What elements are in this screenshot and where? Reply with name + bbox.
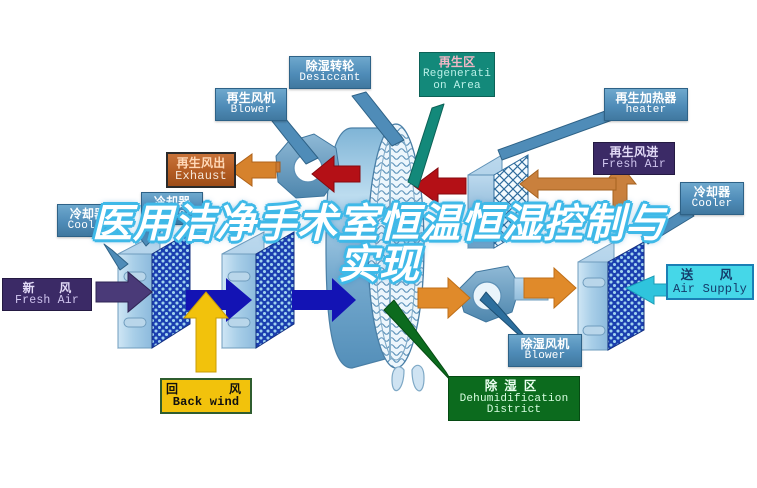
callout-fresh-air[interactable]: 新 风 Fresh Air [2, 278, 92, 311]
callout-desiccant-wheel-en: Desiccant [294, 73, 366, 85]
callout-air-supply-en: Air Supply [672, 283, 748, 296]
callout-back-wind-cn: 回 风 [166, 383, 246, 396]
callout-dehum-blower[interactable]: 除湿风机 Blower [508, 334, 582, 367]
callout-regen-heater-cn: 再生加热器 [609, 92, 683, 105]
callout-regen-fresh-air[interactable]: 再生风进 Fresh Air [593, 142, 675, 175]
callout-cooler-right[interactable]: 冷却器 Cooler [680, 182, 744, 215]
callout-dehum-blower-cn: 除湿风机 [513, 338, 577, 351]
callout-air-supply[interactable]: 送 风 Air Supply [666, 264, 754, 300]
callout-exhaust-cn: 再生风出 [172, 157, 230, 170]
arrow-exhaust-out [230, 154, 276, 186]
arrow-dehum-1 [418, 278, 470, 318]
equipment-graphics-layer [0, 0, 757, 488]
callout-regen-area-en2: on Area [423, 81, 491, 93]
callout-back-wind-en: Back wind [166, 396, 246, 409]
callout-regen-area[interactable]: 再生区 Regenerati on Area [419, 52, 495, 97]
regen-heater-unit [468, 155, 528, 248]
callout-cooler-left-en: Cooler [61, 221, 115, 233]
callout-dehum-blower-en: Blower [513, 351, 577, 363]
callout-cooler-right-cn: 冷却器 [684, 186, 740, 199]
callout-cooler-right-en: Cooler [684, 199, 740, 211]
callout-desiccant-wheel[interactable]: 除湿转轮 Desiccant [289, 56, 371, 89]
callout-regen-blower-cn: 再生风机 [220, 92, 282, 105]
callout-cooler-mid-cn: 冷却器 [145, 196, 199, 209]
callout-cooler-left-cn: 冷却器 [61, 208, 115, 221]
callout-regen-area-cn: 再生区 [423, 56, 491, 69]
cooler-unit-3 [578, 242, 644, 350]
callout-dehum-district-cn: 除湿区 [453, 380, 575, 394]
arrow-dehum-2 [524, 268, 576, 308]
callout-exhaust[interactable]: 再生风出 Exhaust [166, 152, 236, 188]
callout-air-supply-cn: 送 风 [672, 269, 748, 283]
callout-cooler-mid[interactable]: 冷却器 Cooler [141, 192, 203, 225]
diagram-canvas: 除湿转轮 Desiccant 再生风机 Blower 再生区 Regenerat… [0, 0, 757, 488]
callout-exhaust-en: Exhaust [172, 170, 230, 183]
rotor-belt [392, 365, 424, 390]
callout-regen-fresh-air-cn: 再生风进 [598, 146, 670, 159]
callout-fresh-air-cn: 新 风 [7, 282, 87, 295]
callout-cooler-mid-en: Cooler [145, 209, 199, 221]
callout-regen-blower[interactable]: 再生风机 Blower [215, 88, 287, 121]
callout-regen-fresh-air-en: Fresh Air [598, 159, 670, 171]
callout-dehum-district-en2: District [453, 405, 575, 417]
callout-back-wind[interactable]: 回 风 Back wind [160, 378, 252, 414]
callout-regen-heater[interactable]: 再生加热器 heater [604, 88, 688, 121]
callout-fresh-air-en: Fresh Air [7, 295, 87, 307]
callout-dehum-district[interactable]: 除湿区 Dehumidification District [448, 376, 580, 421]
callout-cooler-left[interactable]: 冷却器 Cooler [57, 204, 119, 237]
callout-regen-blower-en: Blower [220, 105, 282, 117]
callout-regen-heater-en: heater [609, 105, 683, 117]
callout-desiccant-wheel-cn: 除湿转轮 [294, 60, 366, 73]
